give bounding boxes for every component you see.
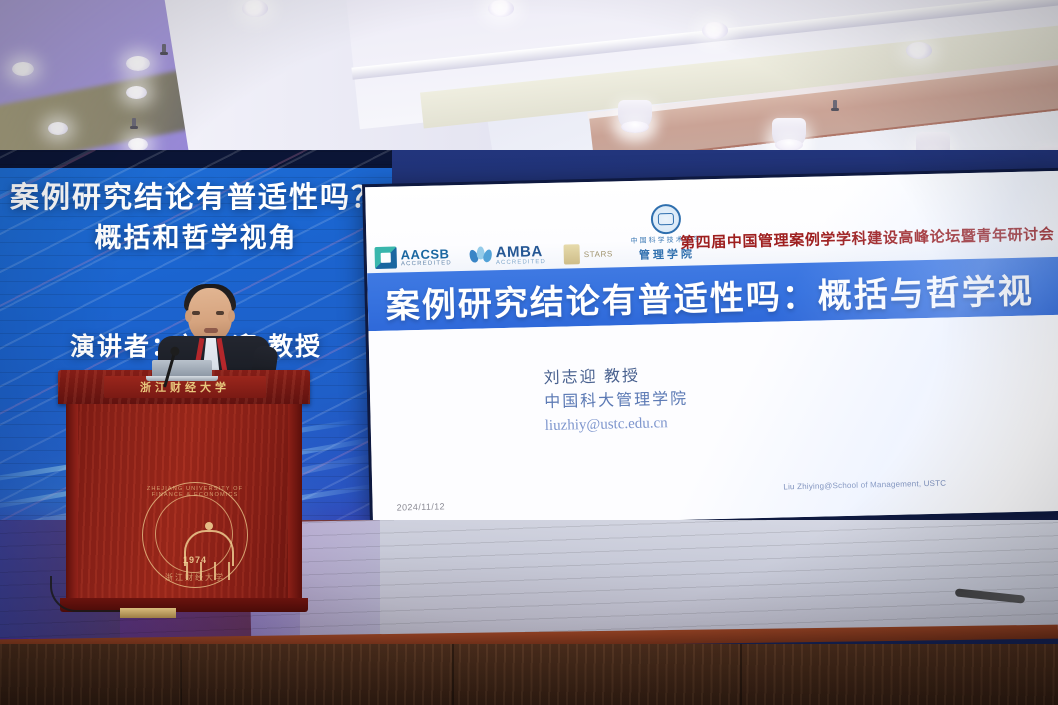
- stage-panel-seam: [740, 644, 742, 705]
- podium-emblem: ZHEJIANG UNIVERSITY OF FINANCE & ECONOMI…: [142, 482, 248, 588]
- led-wall-title: 案例研究结论有普适性吗？ 概括和哲学视角: [0, 178, 392, 258]
- emblem-chinese-text: 浙江财经大学: [143, 572, 247, 583]
- podium-floor-block: [120, 608, 176, 618]
- projection-screen: AACSB ACCREDITED AMBA ACCREDITED: [362, 168, 1058, 530]
- podium-cable: [50, 576, 122, 612]
- ustc-seal-icon: [651, 204, 682, 235]
- downlight-icon: [702, 22, 728, 39]
- presenter-face: [188, 309, 232, 317]
- downlight-icon: [48, 122, 68, 135]
- downlight-icon: [906, 42, 932, 59]
- amba-primary: AMBA: [496, 244, 546, 260]
- slide-logo-row: AACSB ACCREDITED AMBA ACCREDITED: [374, 203, 703, 269]
- led-title-line2: 概括和哲学视角: [0, 219, 392, 257]
- slide-footer-attribution: Liu Zhiying@School of Management, USTC: [783, 479, 946, 492]
- aacsb-primary: AACSB: [401, 247, 452, 261]
- stage-panel-seam: [452, 644, 454, 705]
- conference-stage-photo: 案例研究结论有普适性吗？ 概括和哲学视角 演讲者：刘志迎 教授 AACSB AC…: [0, 0, 1058, 705]
- stars-logo: STARS: [564, 243, 614, 264]
- stars-mark-icon: [564, 244, 580, 264]
- slide-speaker-name: 刘志迎 教授: [543, 364, 688, 391]
- downlight-icon: [488, 0, 514, 17]
- stage-front-grain: [0, 644, 1058, 705]
- presenter-eye: [192, 311, 200, 315]
- podium-body: ZHEJIANG UNIVERSITY OF FINANCE & ECONOMI…: [66, 404, 302, 600]
- amba-secondary: ACCREDITED: [496, 259, 546, 266]
- aacsb-secondary: ACCREDITED: [401, 260, 452, 267]
- laptop-screen: [152, 360, 212, 376]
- stage-panel-seam: [180, 644, 182, 705]
- stage-front-panel: [0, 644, 1058, 705]
- downlight-icon: [12, 62, 34, 76]
- amba-logo: AMBA ACCREDITED: [470, 244, 546, 267]
- slide-speaker-email: liuzhiy@ustc.edu.cn: [545, 412, 690, 438]
- slide-header: AACSB ACCREDITED AMBA ACCREDITED: [365, 171, 1058, 273]
- aacsb-mark-icon: [375, 246, 398, 269]
- sprinkler-icon: [162, 44, 166, 53]
- podium-right-edge: [288, 404, 302, 600]
- amba-mark-icon: [470, 246, 492, 267]
- presenter-mouth: [204, 328, 218, 333]
- presentation-slide: AACSB ACCREDITED AMBA ACCREDITED: [365, 171, 1058, 527]
- amba-text: AMBA ACCREDITED: [496, 244, 546, 266]
- slide-body: 刘志迎 教授 中国科大管理学院 liuzhiy@ustc.edu.cn 2024…: [368, 315, 1058, 527]
- sprinkler-icon: [833, 100, 837, 109]
- aacsb-text: AACSB ACCREDITED: [401, 247, 452, 267]
- slide-speaker-block: 刘志迎 教授 中国科大管理学院 liuzhiy@ustc.edu.cn: [543, 364, 689, 438]
- stars-primary: STARS: [584, 249, 613, 259]
- podium-left-edge: [66, 404, 78, 600]
- slide-banner-text: 第四届中国管理案例学学科建设高峰论坛暨青年研讨会: [680, 223, 1055, 253]
- downlight-icon: [126, 86, 147, 99]
- slide-speaker-org: 中国科大管理学院: [544, 388, 689, 415]
- spotlight-icon: [772, 118, 806, 148]
- spotlight-icon: [618, 100, 652, 130]
- aacsb-logo: AACSB ACCREDITED: [375, 245, 453, 269]
- laptop-icon: [146, 360, 218, 382]
- laptop-base: [146, 376, 218, 381]
- slide-footer-date: 2024/11/12: [397, 501, 446, 512]
- downlight-icon: [126, 56, 150, 71]
- downlight-icon: [242, 0, 268, 17]
- sprinkler-icon: [132, 118, 136, 127]
- presenter-eye: [216, 311, 224, 315]
- emblem-year: 1974: [143, 555, 247, 565]
- podium: 浙江财经大学 ZHEJIANG UNIVERSITY OF FINANCE & …: [58, 370, 310, 628]
- led-title-line1: 案例研究结论有普适性吗？: [0, 178, 392, 219]
